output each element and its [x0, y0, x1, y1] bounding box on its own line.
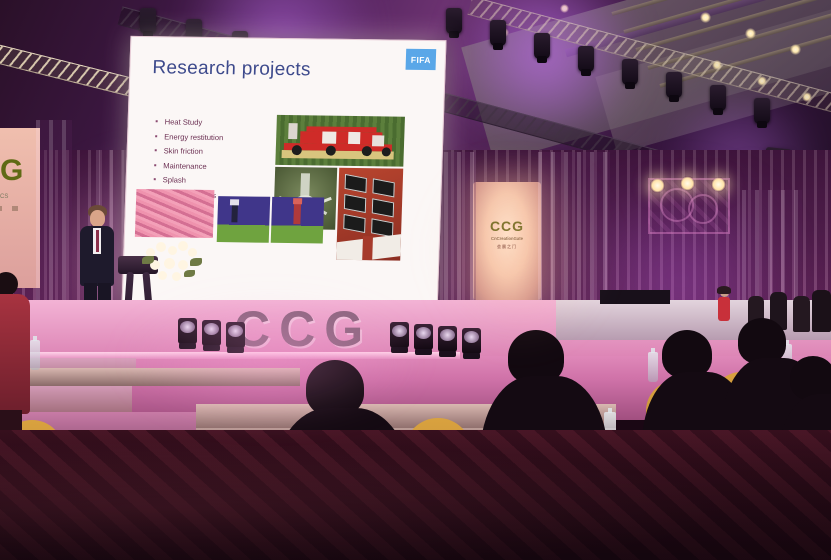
host-in-red: [716, 288, 732, 328]
flower-arrangement: [140, 238, 202, 284]
list-item: Maintenance: [153, 159, 271, 175]
ceiling-downlight: [790, 44, 801, 55]
list-item: Skin friction: [153, 144, 271, 160]
stage-light-fixture: [754, 98, 770, 124]
wall-downlight: [680, 176, 695, 191]
list-item: Energy restitution: [154, 130, 272, 146]
background-attendee: [793, 296, 810, 332]
wall-downlight: [650, 178, 665, 193]
stage-light-fixture: [140, 8, 156, 34]
stage-light-fixture: [666, 72, 682, 98]
stage-light-fixture: [578, 46, 594, 72]
left-banner: G BCS: [0, 128, 40, 288]
ceiling-downlight: [700, 12, 711, 23]
list-item: Splash: [152, 173, 270, 189]
stage-light-fixture: [446, 8, 462, 34]
slide-photo-fabric: [135, 189, 215, 238]
slide-title: Research projects: [152, 57, 311, 81]
conference-photo: CCG CnCreationGate 会展之门 G BCS Research p…: [0, 0, 831, 560]
slide-photo-boot-trays: [336, 168, 403, 261]
water-bottle: [648, 352, 658, 382]
wall-downlight: [711, 177, 726, 192]
fifa-logo: FIFA: [406, 49, 437, 70]
slide-photo-testing-rig: [275, 115, 405, 167]
slide-photo-player-2: [271, 197, 325, 244]
ceiling-downlight: [745, 28, 756, 39]
stage-light-fixture: [490, 20, 506, 46]
stage-light-fixture: [534, 33, 550, 59]
stage-light-fixture: [622, 59, 638, 85]
av-equipment: [600, 290, 670, 304]
stage-light-fixture: [710, 85, 726, 111]
presenter-tie: [96, 230, 99, 252]
list-item: Heat Study: [154, 115, 272, 131]
slide-photo-player-1: [217, 196, 271, 243]
moving-head-light: [414, 324, 433, 350]
left-banner-logo: G: [0, 154, 23, 188]
background-attendee: [812, 290, 831, 332]
moving-head-light: [438, 326, 457, 352]
